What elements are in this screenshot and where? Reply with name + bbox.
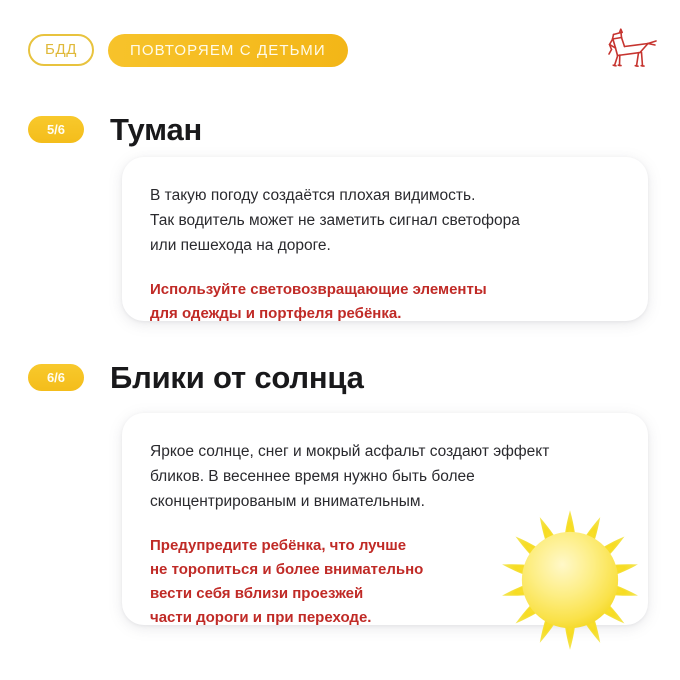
card-fog-body-line: Так водитель может не заметить сигнал св… (150, 208, 618, 233)
red-horse-logo-icon (600, 24, 658, 70)
step-badge-label: 6/6 (47, 371, 65, 384)
step-badge-6-6: 6/6 (28, 364, 84, 391)
section-fog: 5/6 Туман (0, 104, 680, 154)
card-glare-body-line: Яркое солнце, снег и мокрый асфальт созд… (150, 439, 618, 464)
card-fog-body-line: В такую погоду создаётся плохая видимост… (150, 183, 618, 208)
card-glare-accent: Предупредите ребёнка, что лучше не тороп… (150, 534, 618, 630)
section-glare-heading: 6/6 Блики от солнца (0, 352, 680, 402)
card-fog-accent: Используйте световозвращающие элементы д… (150, 278, 618, 326)
card-fog-accent-line: Используйте световозвращающие элементы (150, 278, 618, 302)
brand-badge-bdd[interactable]: БДД (28, 34, 94, 66)
brand-badge-label: БДД (45, 42, 77, 58)
card-fog-body: В такую погоду создаётся плохая видимост… (150, 183, 618, 258)
card-glare-body-line: сконцентрированым и внимательным. (150, 489, 618, 514)
card-fog-body-line: или пешехода на дороге. (150, 233, 618, 258)
section-pill-label: ПОВТОРЯЕМ С ДЕТЬМИ (130, 43, 326, 59)
card-glare-accent-line: вести себя вблизи проезжей (150, 582, 618, 606)
section-glare-title: Блики от солнца (110, 362, 364, 393)
card-glare-body-line: бликов. В весеннее время нужно быть боле… (150, 464, 618, 489)
section-pill-repeat-with-children[interactable]: ПОВТОРЯЕМ С ДЕТЬМИ (108, 34, 348, 67)
card-fog: В такую погоду создаётся плохая видимост… (122, 157, 648, 321)
section-glare: 6/6 Блики от солнца (0, 352, 680, 402)
card-glare-accent-line: не торопиться и более внимательно (150, 558, 618, 582)
step-badge-5-6: 5/6 (28, 116, 84, 143)
card-glare: Яркое солнце, снег и мокрый асфальт созд… (122, 413, 648, 625)
page-header: БДД ПОВТОРЯЕМ С ДЕТЬМИ (0, 0, 680, 92)
card-glare-body: Яркое солнце, снег и мокрый асфальт созд… (150, 439, 618, 514)
step-badge-label: 5/6 (47, 123, 65, 136)
card-fog-accent-line: для одежды и портфеля ребёнка. (150, 302, 618, 326)
card-glare-accent-line: части дороги и при переходе. (150, 606, 618, 630)
section-fog-title: Туман (110, 114, 202, 145)
section-fog-heading: 5/6 Туман (0, 104, 680, 154)
card-glare-accent-line: Предупредите ребёнка, что лучше (150, 534, 618, 558)
